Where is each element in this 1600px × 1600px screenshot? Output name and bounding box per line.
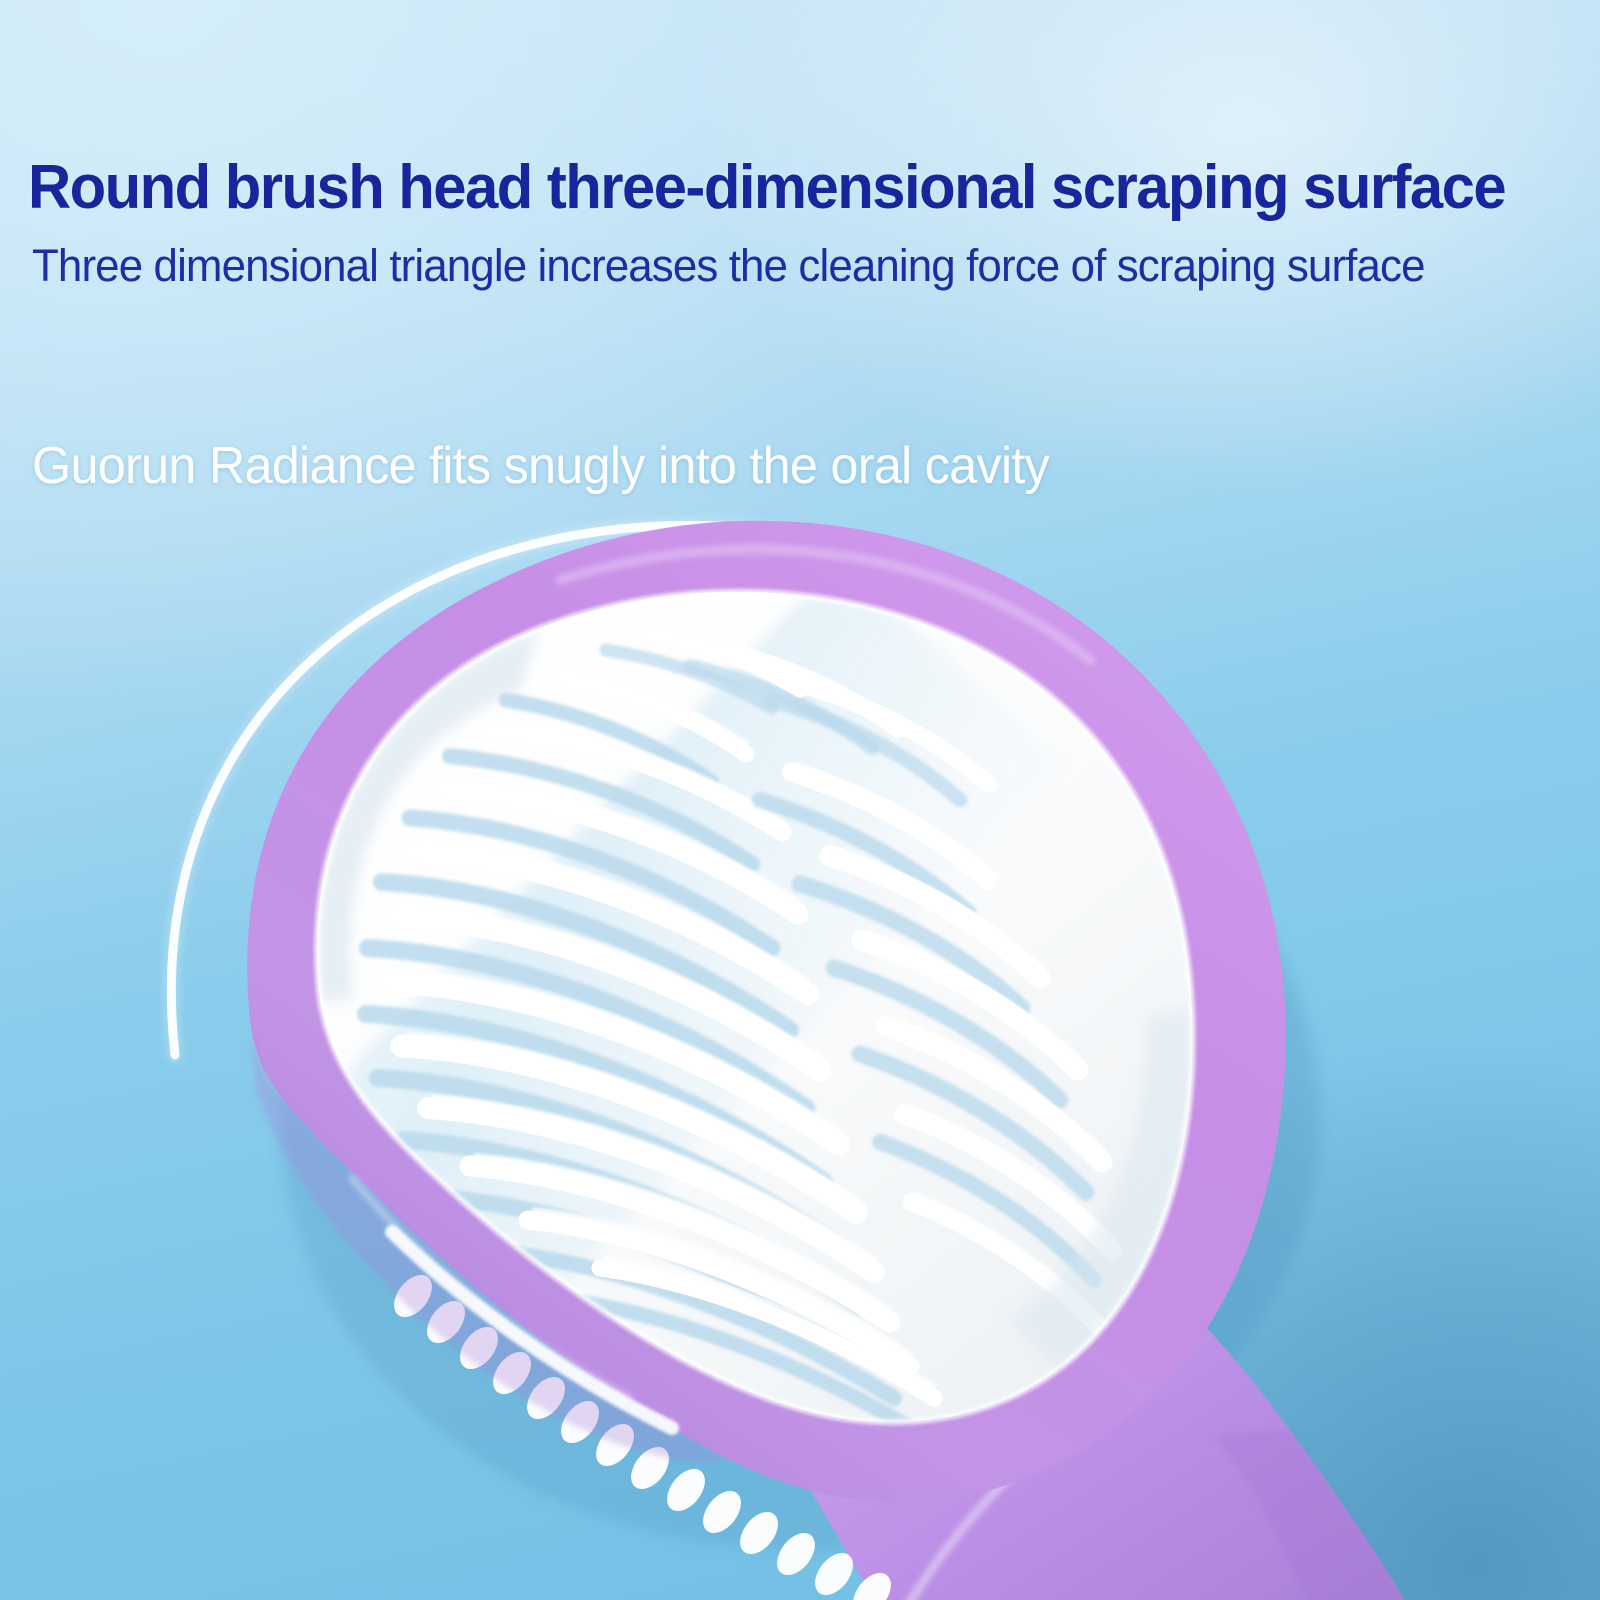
product-feature-banner: Round brush head three-dimensional scrap… <box>0 0 1600 1600</box>
page-subtitle: Three dimensional triangle increases the… <box>32 240 1425 292</box>
page-title: Round brush head three-dimensional scrap… <box>28 152 1505 223</box>
feature-caption: Guorun Radiance fits snugly into the ora… <box>32 436 1049 496</box>
